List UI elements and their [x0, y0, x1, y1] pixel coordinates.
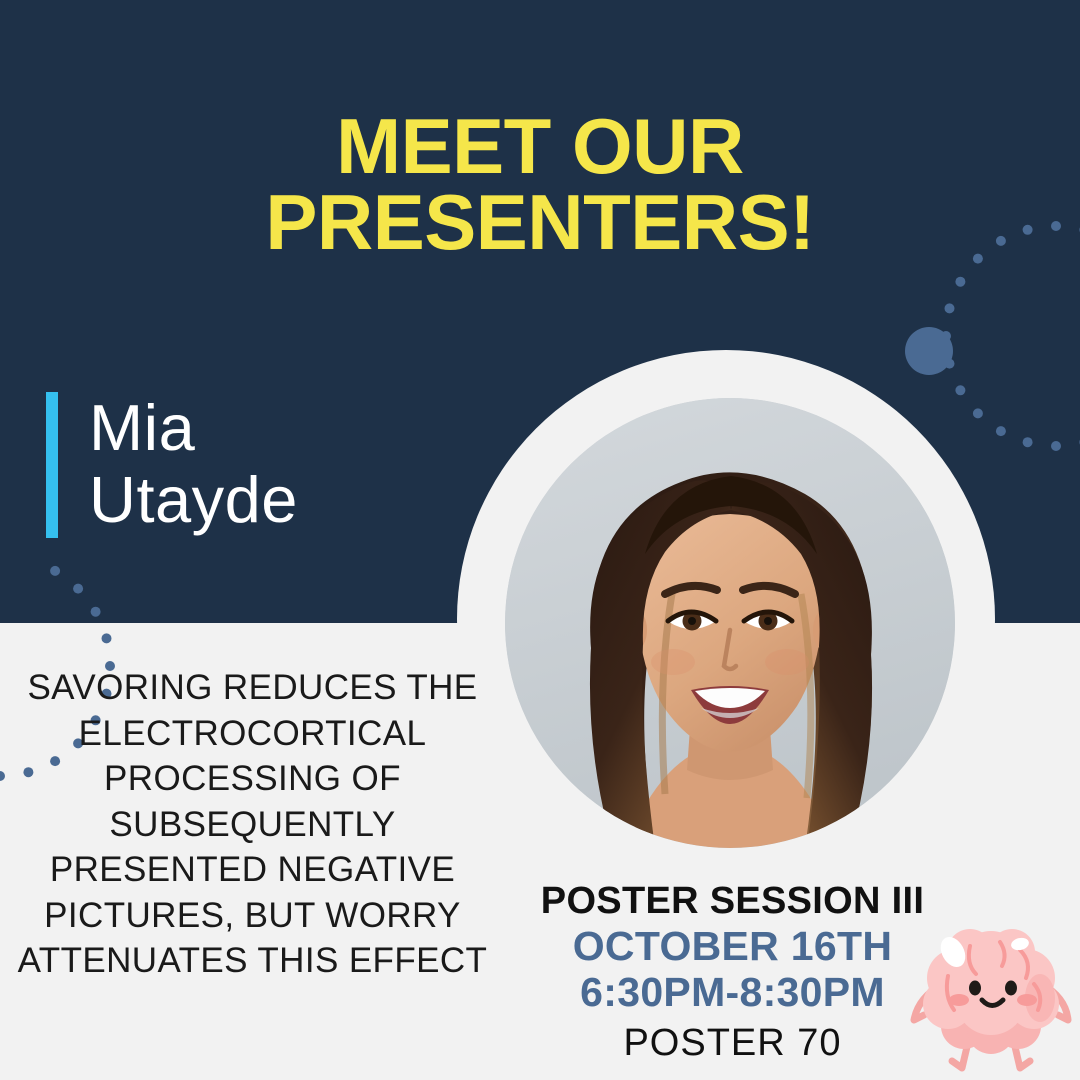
headline-line-1: MEET OUR [0, 108, 1080, 184]
presenter-name-block: Mia Utayde [46, 392, 298, 538]
session-time: 6:30PM-8:30PM [505, 969, 960, 1016]
abstract-title: SAVORING REDUCES THE ELECTROCORTICAL PRO… [0, 665, 505, 984]
session-name: POSTER SESSION III [505, 880, 960, 923]
session-details: POSTER SESSION III OCTOBER 16TH 6:30PM-8… [505, 880, 960, 1066]
session-date: OCTOBER 16TH [505, 923, 960, 970]
cyan-accent-bar [46, 392, 58, 538]
poster-headline: MEET OUR PRESENTERS! [0, 108, 1080, 261]
solid-dot-decoration [905, 327, 953, 375]
brain-mascot-icon [908, 922, 1074, 1080]
headline-line-2: PRESENTERS! [0, 184, 1080, 260]
poster-number: POSTER 70 [505, 1020, 960, 1066]
presenter-name: Mia Utayde [89, 392, 298, 538]
presenter-portrait [505, 398, 955, 848]
presenter-announcement-poster: MEET OUR PRESENTERS! Mia Utayde [0, 0, 1080, 1080]
